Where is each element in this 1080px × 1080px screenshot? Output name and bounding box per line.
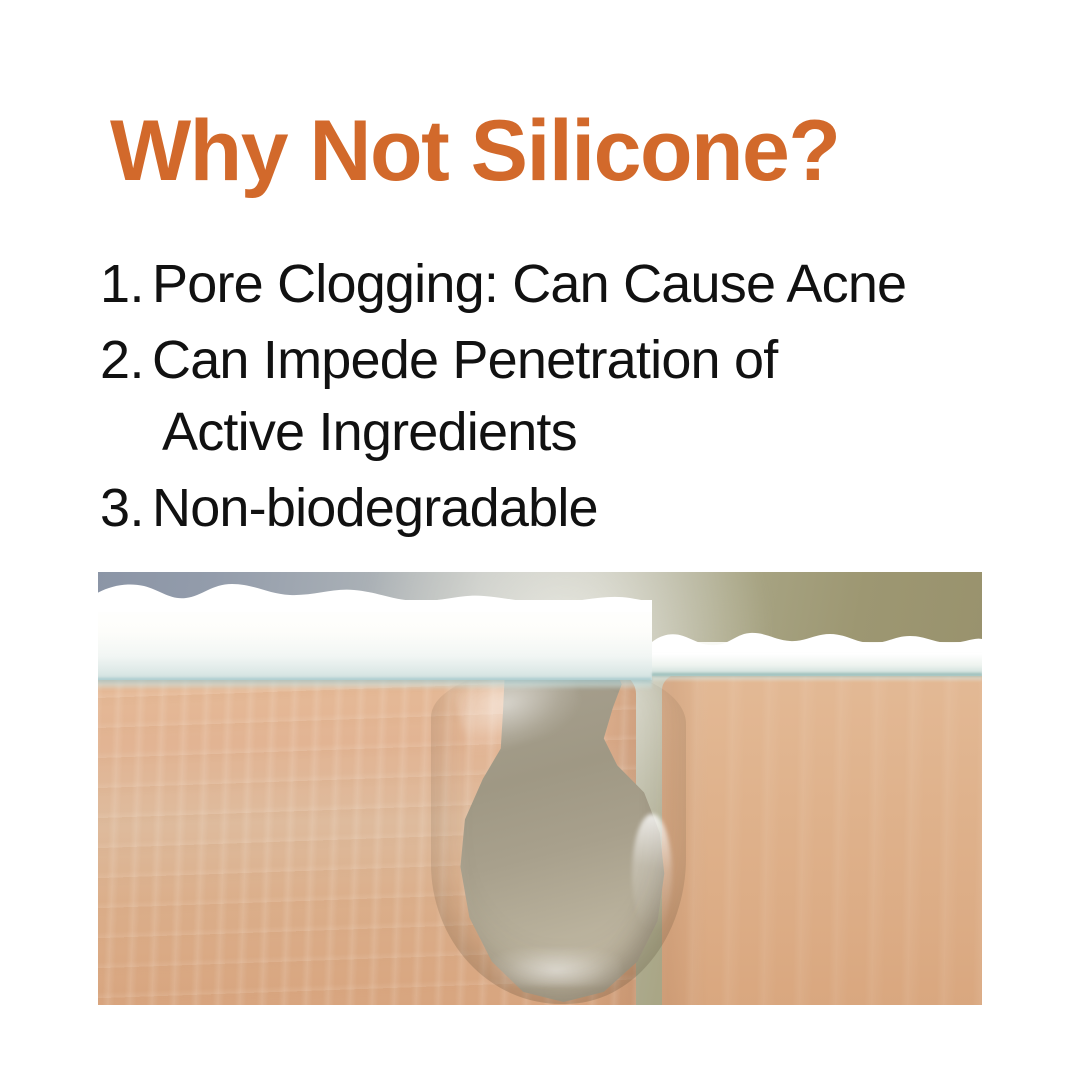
- pore-highlight-bottom: [491, 948, 621, 986]
- list-item-text: Non-biodegradable: [152, 472, 1016, 544]
- list-item-line1: Non-biodegradable: [152, 478, 598, 538]
- list-item-number: 3.: [96, 472, 152, 544]
- list-item-number: 1.: [96, 248, 152, 320]
- list-item: 1. Pore Clogging: Can Cause Acne: [96, 248, 1016, 320]
- list-item-text: Pore Clogging: Can Cause Acne: [152, 248, 1016, 320]
- list-item-number: 2.: [96, 324, 152, 396]
- clogged-pore: [431, 664, 686, 1004]
- list-item-line1: Can Impede Penetration of: [152, 330, 777, 390]
- silicone-film-underline-left: [98, 678, 652, 690]
- silicone-film-thick-left: [98, 600, 652, 680]
- silicone-film-crest-left: [98, 582, 652, 612]
- silicone-film-underline-right: [652, 673, 982, 682]
- infographic-card: Why Not Silicone? 1. Pore Clogging: Can …: [0, 0, 1080, 1080]
- skin-slab-right: [662, 672, 982, 1005]
- reasons-list: 1. Pore Clogging: Can Cause Acne 2. Can …: [96, 248, 1016, 548]
- skin-cross-section-illustration: [98, 572, 982, 1005]
- page-title: Why Not Silicone?: [110, 108, 970, 194]
- pore-highlight-right: [632, 814, 672, 934]
- list-item: 3. Non-biodegradable: [96, 472, 1016, 544]
- list-item: 2. Can Impede Penetration of Active Ingr…: [96, 324, 1016, 468]
- silicone-film-thin-right: [652, 642, 982, 676]
- list-item-text: Can Impede Penetration of Active Ingredi…: [152, 324, 1016, 468]
- list-item-line1: Pore Clogging: Can Cause Acne: [152, 254, 906, 314]
- list-item-line2: Active Ingredients: [152, 396, 1016, 468]
- silicone-film-crest-right: [652, 630, 982, 652]
